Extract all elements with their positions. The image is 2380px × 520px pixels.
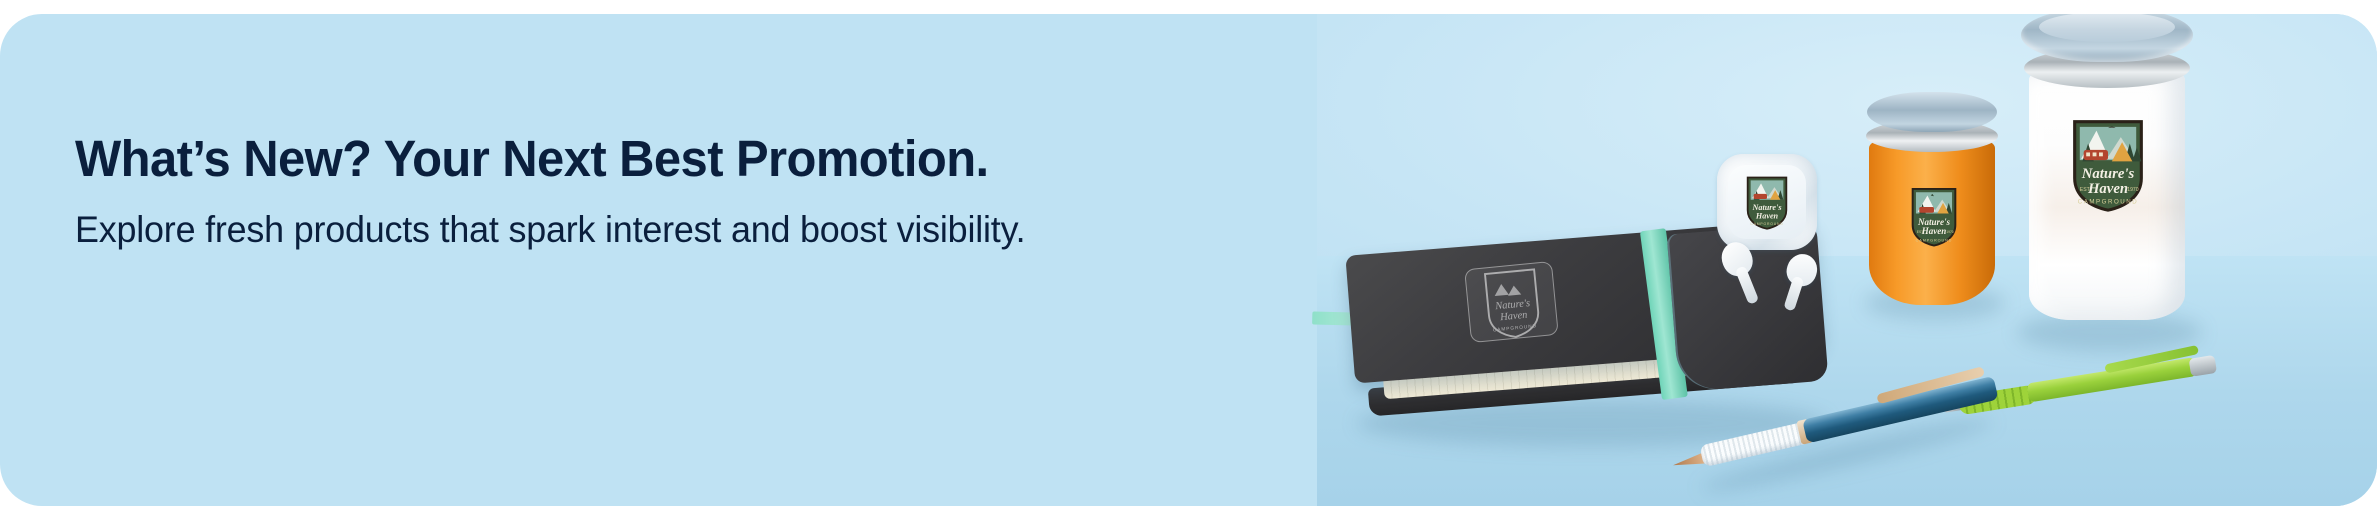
product-photo: Nature's Haven CAMPGROUND Nature's Ha xyxy=(1317,14,2377,506)
journal-product: Nature's Haven CAMPGROUND xyxy=(1345,217,1858,446)
svg-text:EST: EST xyxy=(1917,230,1923,234)
svg-text:Haven: Haven xyxy=(2087,181,2128,197)
svg-text:1970: 1970 xyxy=(1946,230,1953,234)
svg-text:EST: EST xyxy=(2080,187,2090,193)
svg-text:CAMPGROUND: CAMPGROUND xyxy=(1916,238,1953,242)
journal-debossed-logo: Nature's Haven CAMPGROUND xyxy=(1464,261,1559,343)
earbuds-case-product: Nature's Haven CAMPGROUND xyxy=(1717,154,1817,250)
tumbler-orange-lid xyxy=(1867,92,1997,132)
promo-banner[interactable]: What’s New? Your Next Best Promotion. Ex… xyxy=(0,14,2377,506)
natures-haven-badge-icon: Nature's Haven CAMPGROUND xyxy=(1744,173,1790,231)
svg-text:CAMPGROUND: CAMPGROUND xyxy=(1493,323,1538,333)
svg-text:CAMPGROUND: CAMPGROUND xyxy=(2078,199,2138,206)
natures-haven-badge-icon: Nature's Haven EST 1970 CAMPGROUND xyxy=(2069,114,2147,214)
natures-haven-badge-icon: Nature's Haven CAMPGROUND xyxy=(1465,262,1560,344)
svg-text:Nature's: Nature's xyxy=(2081,166,2135,182)
tumbler-white-product: Nature's Haven EST 1970 CAMPGROUND xyxy=(2017,14,2197,318)
pen-green-plunger xyxy=(2189,355,2217,377)
svg-text:1970: 1970 xyxy=(2127,187,2139,193)
svg-text:Haven: Haven xyxy=(1755,211,1779,220)
page-subtitle: Explore fresh products that spark intere… xyxy=(75,210,1288,251)
svg-text:Haven: Haven xyxy=(1499,310,1528,324)
svg-text:CAMPGROUND: CAMPGROUND xyxy=(1750,222,1783,226)
tumbler-orange-product: Nature's Haven EST 1970 CAMPGROUND xyxy=(1857,92,2007,307)
banner-copy-block: What’s New? Your Next Best Promotion. Ex… xyxy=(75,132,1325,250)
page-title: What’s New? Your Next Best Promotion. xyxy=(75,132,1275,186)
natures-haven-badge-icon: Nature's Haven EST 1970 CAMPGROUND xyxy=(1909,184,1959,248)
svg-text:Haven: Haven xyxy=(1921,226,1947,236)
